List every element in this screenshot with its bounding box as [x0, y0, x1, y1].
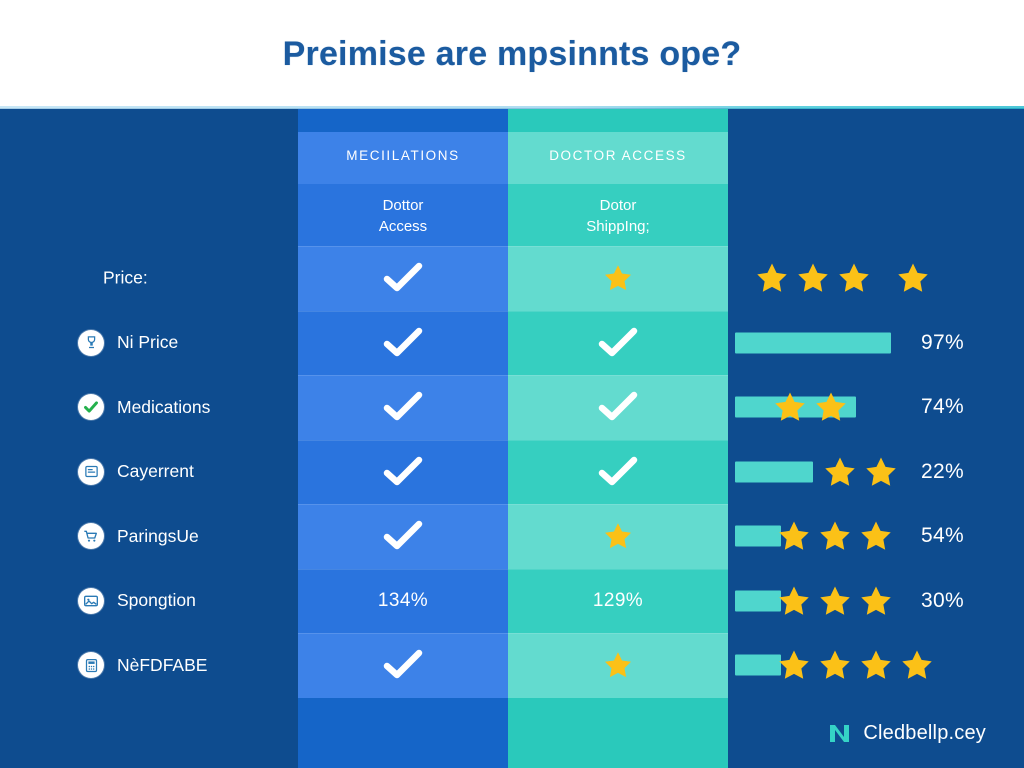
row-label-text: Cayerrent	[117, 461, 194, 482]
row-label-group: ParingsUe	[78, 523, 199, 549]
column-subheader-line1-doctor-access: Dotor	[508, 195, 728, 216]
row-metric	[735, 648, 1024, 682]
row-label-group: NèFDFABE	[78, 652, 207, 678]
document-icon	[78, 459, 104, 485]
star-icon	[603, 263, 633, 293]
cell-doctor-access[interactable]	[508, 521, 728, 551]
row-label-text: Medications	[117, 397, 210, 418]
green-check-icon	[78, 394, 104, 420]
check-icon	[383, 262, 423, 294]
star-icon	[777, 519, 811, 553]
row-label-text: Price:	[103, 268, 148, 289]
check-icon	[383, 520, 423, 552]
row-metric: 97%	[735, 326, 1024, 360]
star-rating	[773, 390, 848, 424]
percent-value: 22%	[921, 460, 964, 484]
table-row[interactable]: ParingsUe54%	[0, 504, 1024, 569]
star-rating	[777, 648, 934, 682]
check-icon	[383, 391, 423, 423]
table-row[interactable]: Price:	[0, 246, 1024, 311]
progress-bar	[735, 461, 813, 482]
row-label-group: Cayerrent	[78, 459, 194, 485]
row-label-group: Medications	[78, 394, 210, 420]
star-icon	[777, 584, 811, 618]
column-header-doctor-access: DOCTOR ACCESS	[508, 132, 728, 184]
star-icon	[896, 261, 930, 295]
cell-medications[interactable]	[298, 262, 508, 294]
check-icon	[598, 456, 638, 488]
row-metric: 54%	[735, 519, 1024, 553]
column-subheader-medications: Dottor Access	[298, 184, 508, 246]
table-row[interactable]: Medications74%	[0, 375, 1024, 440]
row-label-group: Price:	[103, 268, 148, 289]
check-icon	[598, 327, 638, 359]
page-title: Preimise are mpsinnts ope?	[283, 35, 742, 74]
column-header-medications: MECIILATIONS	[298, 132, 508, 184]
star-icon	[823, 455, 857, 489]
star-icon	[796, 261, 830, 295]
star-icon	[773, 390, 807, 424]
cell-medications[interactable]	[298, 520, 508, 552]
row-label-text: ParingsUe	[117, 526, 199, 547]
cell-doctor-access[interactable]	[508, 650, 728, 680]
trophy-icon	[78, 330, 104, 356]
row-label-text: Ni Price	[117, 332, 178, 353]
column-subheader-line2-medications: Access	[298, 216, 508, 237]
check-icon	[598, 391, 638, 423]
logo-text: Cledbellp.cey	[863, 722, 986, 745]
progress-bar	[735, 526, 781, 547]
cell-doctor-access[interactable]	[508, 456, 728, 488]
column-footer-doctor-access	[508, 737, 728, 768]
row-label-group: Spongtion	[78, 588, 196, 614]
cell-doctor-access[interactable]	[508, 391, 728, 423]
percent-value: 97%	[921, 331, 964, 355]
star-rating	[823, 455, 898, 489]
star-icon	[755, 261, 789, 295]
cell-doctor-access[interactable]: 129%	[508, 590, 728, 612]
title-banner: Preimise are mpsinnts ope?	[0, 0, 1024, 108]
cell-value: 134%	[378, 590, 428, 612]
cell-doctor-access[interactable]	[508, 327, 728, 359]
star-icon	[818, 519, 852, 553]
star-icon	[777, 648, 811, 682]
row-label-text: Spongtion	[117, 590, 196, 611]
table-row[interactable]: NèFDFABE	[0, 633, 1024, 698]
percent-value: 54%	[921, 524, 964, 548]
percent-value: 30%	[921, 589, 964, 613]
progress-bar	[735, 590, 781, 611]
column-subheader-label-doctor-access: Dotor ShippIng;	[508, 195, 728, 237]
table-row[interactable]: Ni Price97%	[0, 311, 1024, 376]
logo-n-icon	[827, 720, 853, 746]
star-icon	[603, 521, 633, 551]
progress-bar	[735, 655, 781, 676]
cell-medications[interactable]	[298, 327, 508, 359]
star-icon	[859, 519, 893, 553]
table-row[interactable]: Cayerrent22%	[0, 440, 1024, 505]
cell-medications[interactable]: 134%	[298, 590, 508, 612]
row-label-group: Ni Price	[78, 330, 178, 356]
cart-icon	[78, 523, 104, 549]
image-icon	[78, 588, 104, 614]
star-icon	[814, 390, 848, 424]
row-metric: 74%	[735, 390, 1024, 424]
cell-medications[interactable]	[298, 391, 508, 423]
star-icon	[864, 455, 898, 489]
column-header-label-medications: MECIILATIONS	[298, 148, 508, 163]
cell-medications[interactable]	[298, 649, 508, 681]
star-rating	[777, 519, 893, 553]
row-metric: 30%	[735, 584, 1024, 618]
star-rating	[777, 584, 893, 618]
progress-bar	[735, 332, 891, 353]
star-icon	[859, 648, 893, 682]
check-icon	[383, 456, 423, 488]
star-icon	[837, 261, 871, 295]
cell-medications[interactable]	[298, 456, 508, 488]
check-icon	[383, 327, 423, 359]
cell-value: 129%	[593, 590, 643, 612]
star-icon	[818, 584, 852, 618]
column-subheader-line2-doctor-access: ShippIng;	[508, 216, 728, 237]
column-subheader-line1-medications: Dottor	[298, 195, 508, 216]
table-body: MECIILATIONS DOCTOR ACCESS Dottor Access…	[0, 109, 1024, 768]
column-footer-medications	[298, 737, 508, 768]
row-label-text: NèFDFABE	[117, 655, 207, 676]
table-row[interactable]: Spongtion134%129%30%	[0, 569, 1024, 634]
star-rating	[755, 261, 930, 295]
calculator-icon	[78, 652, 104, 678]
check-icon	[383, 649, 423, 681]
column-subheader-label-medications: Dottor Access	[298, 195, 508, 237]
star-icon	[900, 648, 934, 682]
row-metric	[735, 261, 1024, 295]
infographic-comparison-table: Preimise are mpsinnts ope? MECIILATIONS …	[0, 0, 1024, 768]
star-icon	[859, 584, 893, 618]
cell-doctor-access[interactable]	[508, 263, 728, 293]
column-subheader-doctor-access: Dotor ShippIng;	[508, 184, 728, 246]
row-metric: 22%	[735, 455, 1024, 489]
star-icon	[603, 650, 633, 680]
percent-value: 74%	[921, 395, 964, 419]
brand-logo: Cledbellp.cey	[827, 720, 986, 746]
star-icon	[818, 648, 852, 682]
column-header-label-doctor-access: DOCTOR ACCESS	[508, 148, 728, 163]
